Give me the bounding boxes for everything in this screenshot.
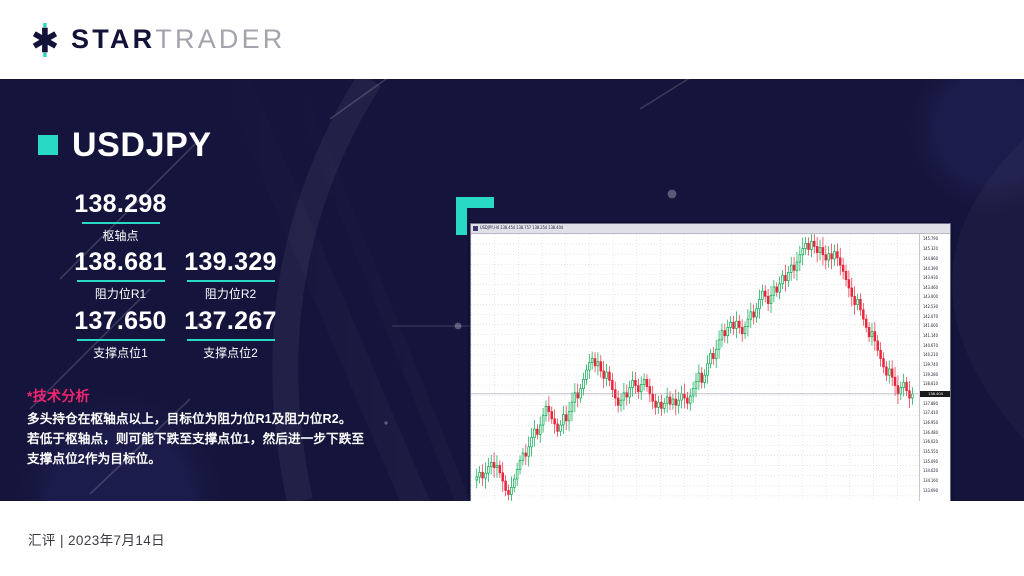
level-pivot-value: 138.298 bbox=[38, 192, 203, 217]
level-s2-label: 支撑点位2 bbox=[148, 346, 313, 360]
level-pivot-label: 枢轴点 bbox=[38, 229, 203, 243]
level-r2-label: 阻力位R2 bbox=[148, 287, 313, 301]
brand-name-bold: STAR bbox=[71, 24, 155, 54]
chart-titlebar: USDJPY,H4 138.454 138.757 138.254 138.40… bbox=[471, 224, 950, 234]
price-tick-label: 137.410 bbox=[923, 412, 938, 417]
level-s2-value: 137.267 bbox=[148, 309, 313, 334]
chart-window: USDJPY,H4 138.454 138.757 138.254 138.40… bbox=[470, 223, 951, 501]
price-tick-label: 136.480 bbox=[923, 431, 938, 436]
level-support-2: 137.267 支撑点位2 bbox=[148, 309, 313, 360]
main-stage: USDJPY 138.298 枢轴点 138.681 阻力位R1 139.329… bbox=[0, 79, 1024, 501]
price-tick-label: 139.740 bbox=[923, 364, 938, 369]
analysis-heading: *技术分析 bbox=[27, 389, 407, 403]
price-tick-label: 144.860 bbox=[923, 257, 938, 262]
price-tick-label: 143.460 bbox=[923, 286, 938, 291]
current-price-tag: 138.404 bbox=[920, 391, 950, 397]
instrument-title: USDJPY bbox=[38, 128, 212, 162]
price-tick-label: 142.530 bbox=[923, 306, 938, 311]
chart-titlebar-text: USDJPY,H4 138.454 138.757 138.254 138.40… bbox=[480, 226, 563, 230]
price-tick-label: 133.690 bbox=[923, 489, 938, 494]
price-tick-label: 138.810 bbox=[923, 383, 938, 388]
price-tick-label: 144.390 bbox=[923, 267, 938, 272]
analysis-line-1: 多头持仓在枢轴点以上，目标位为阻力位R1及阻力位R2。 bbox=[27, 410, 407, 430]
price-tick-label: 141.140 bbox=[923, 334, 938, 339]
level-resistance-2: 139.329 阻力位R2 bbox=[148, 250, 313, 301]
title-square-marker bbox=[38, 135, 58, 155]
price-tick-label: 135.090 bbox=[923, 460, 938, 465]
level-pivot: 138.298 枢轴点 bbox=[38, 192, 203, 243]
analysis-body: 多头持仓在枢轴点以上，目标位为阻力位R1及阻力位R2。 若低于枢轴点，则可能下跌… bbox=[27, 410, 407, 470]
price-tick-label: 134.160 bbox=[923, 479, 938, 484]
price-tick-label: 143.930 bbox=[923, 277, 938, 282]
level-underline bbox=[187, 339, 275, 341]
candlestick-plot bbox=[471, 234, 952, 501]
level-underline bbox=[82, 222, 160, 224]
price-tick-label: 145.790 bbox=[923, 238, 938, 243]
price-tick-label: 140.670 bbox=[923, 344, 938, 349]
instrument-symbol: USDJPY bbox=[72, 128, 212, 162]
price-tick-label: 135.550 bbox=[923, 451, 938, 456]
chart-price-axis: 145.790145.320144.860144.390143.930143.4… bbox=[919, 234, 950, 501]
brand-name-light: TRADER bbox=[155, 24, 285, 54]
analysis-line-2: 若低于枢轴点，则可能下跌至支撑点位1，然后进一步下跌至 bbox=[27, 430, 407, 450]
footer-bar: 汇评 | 2023年7月14日 bbox=[0, 501, 1024, 576]
chart-window-icon bbox=[473, 226, 478, 231]
price-tick-label: 141.600 bbox=[923, 325, 938, 330]
price-tick-label: 143.000 bbox=[923, 296, 938, 301]
price-tick-label: 137.880 bbox=[923, 402, 938, 407]
price-tick-label: 142.070 bbox=[923, 315, 938, 320]
price-tick-label: 136.950 bbox=[923, 421, 938, 426]
info-panel: USDJPY 138.298 枢轴点 138.681 阻力位R1 139.329… bbox=[0, 79, 430, 501]
price-tick-label: 140.210 bbox=[923, 354, 938, 359]
price-tick-label: 145.320 bbox=[923, 248, 938, 253]
brand-wordmark: STARTRADER bbox=[71, 26, 286, 53]
footer-text: 汇评 | 2023年7月14日 bbox=[28, 529, 165, 549]
technical-analysis: *技术分析 多头持仓在枢轴点以上，目标位为阻力位R1及阻力位R2。 若低于枢轴点… bbox=[27, 389, 407, 470]
price-tick-label: 139.280 bbox=[923, 373, 938, 378]
price-tick-label: 136.020 bbox=[923, 441, 938, 446]
asterisk-star-icon bbox=[28, 23, 62, 57]
level-r2-value: 139.329 bbox=[148, 250, 313, 275]
level-underline bbox=[187, 280, 275, 282]
price-tick-label: 134.620 bbox=[923, 470, 938, 475]
brand-logo: STARTRADER bbox=[28, 23, 286, 57]
analysis-line-3: 支撑点位2作为目标位。 bbox=[27, 450, 407, 470]
chart-plot-area bbox=[471, 234, 950, 501]
header-bar: STARTRADER bbox=[0, 0, 1024, 79]
slide-root: STARTRADER bbox=[0, 0, 1024, 576]
